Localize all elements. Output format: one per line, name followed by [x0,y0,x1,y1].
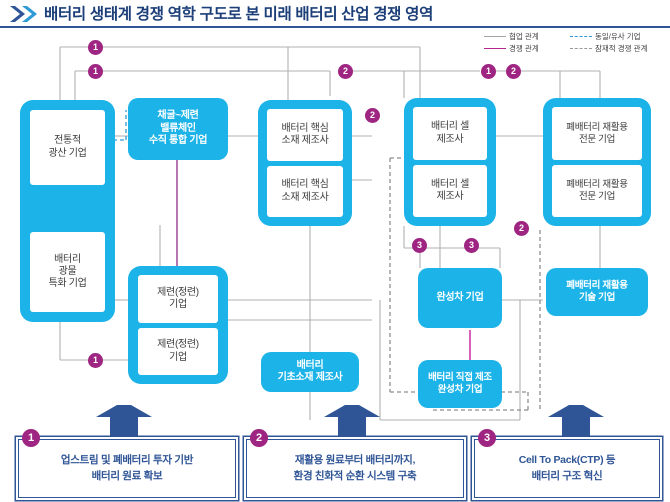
badge-2-right: 2 [514,221,529,236]
key-material-cell-1[interactable]: 배터리 핵심소재 제조사 [267,109,343,161]
callout-3[interactable]: Cell To Pack(CTP) 등배터리 구조 혁신 [474,439,660,498]
key-material-group: 배터리 핵심소재 제조사 배터리 핵심소재 제조사 [258,100,352,226]
oem-node[interactable]: 완성차 기업 [418,268,502,328]
recycling-cell-1[interactable]: 폐배터리 재활용전문 기업 [552,107,642,160]
base-material-node[interactable]: 배터리기초소재 제조사 [261,352,359,392]
recycling-tech-node[interactable]: 폐배터리 재활용기술 기업 [546,268,648,316]
callout-badge-2: 2 [250,429,268,447]
badge-1-top-c: 1 [481,64,496,79]
refining-cell-2[interactable]: 제련(정련)기업 [138,328,218,375]
cell-maker-group: 배터리 셀제조사 배터리 셀제조사 [404,98,496,226]
badge-3-right: 3 [464,238,479,253]
badge-2-mid: 2 [365,108,380,123]
callout-2[interactable]: 재활용 원료부터 배터리까지,환경 친화적 순환 시스템 구축 [246,439,464,498]
badge-2-top-a: 2 [338,64,353,79]
cell-maker-cell-1[interactable]: 배터리 셀제조사 [413,107,487,160]
refining-group: 제련(정련)기업 제련(정련)기업 [128,266,228,384]
vertical-integration-node[interactable]: 채굴~제련밸류체인수직 통합 기업 [128,98,228,160]
badge-1-top-a: 1 [88,40,103,55]
cell-maker-cell-2[interactable]: 배터리 셀제조사 [413,165,487,217]
refining-cell-1[interactable]: 제련(정련)기업 [138,275,218,323]
badge-3-left: 3 [412,238,427,253]
recycling-group: 폐배터리 재활용전문 기업 폐배터리 재활용전문 기업 [543,98,651,226]
badge-1-bottom: 1 [88,353,103,368]
mining-cell-traditional[interactable]: 전통적광산 기업 [30,110,105,185]
callout-1[interactable]: 업스트림 및 폐배터리 투자 기반배터리 원료 확보 [18,439,236,498]
badge-1-top-b: 1 [88,64,103,79]
callout-badge-1: 1 [22,429,40,447]
recycling-cell-2[interactable]: 폐배터리 재활용전문 기업 [552,165,642,217]
oem-battery-node[interactable]: 배터리 직접 제조완성차 기업 [418,360,502,408]
mining-cell-specialized[interactable]: 배터리광물특화 기업 [30,232,105,312]
callout-badge-3: 3 [478,429,496,447]
diagram-canvas: 배터리 생태계 경쟁 역학 구도로 본 미래 배터리 산업 경쟁 영역 협업 관… [0,0,670,502]
mining-group: 전통적광산 기업 배터리광물특화 기업 [20,100,115,322]
badge-2-top-b: 2 [506,64,521,79]
key-material-cell-2[interactable]: 배터리 핵심소재 제조사 [267,166,343,217]
